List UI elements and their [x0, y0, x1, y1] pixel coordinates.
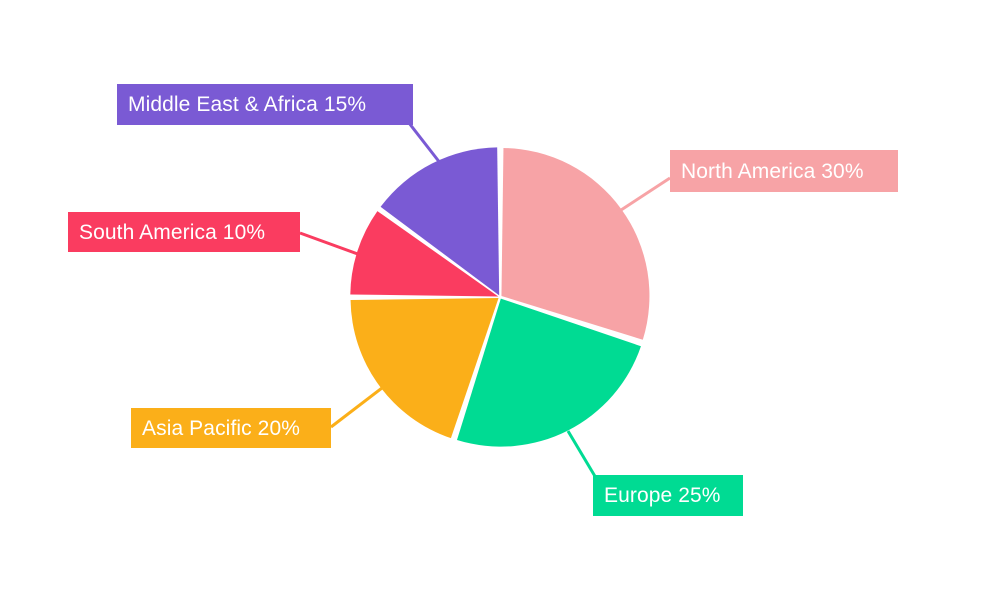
- leader-line-asia-pacific: [331, 388, 382, 427]
- slice-label-europe[interactable]: Europe 25%: [593, 475, 743, 516]
- slice-label-north-america[interactable]: North America 30%: [670, 150, 898, 192]
- pie-slices-group: [350, 147, 649, 446]
- slice-label-asia-pacific[interactable]: Asia Pacific 20%: [131, 408, 331, 448]
- pie-chart-figure: North America 30%Europe 25%Asia Pacific …: [0, 0, 1000, 600]
- slice-label-south-america[interactable]: South America 10%: [68, 212, 300, 252]
- leader-line-north-america: [618, 178, 670, 212]
- leader-line-south-america: [300, 233, 366, 257]
- slice-label-middle-east-africa[interactable]: Middle East & Africa 15%: [117, 84, 413, 125]
- leader-line-europe: [568, 431, 596, 478]
